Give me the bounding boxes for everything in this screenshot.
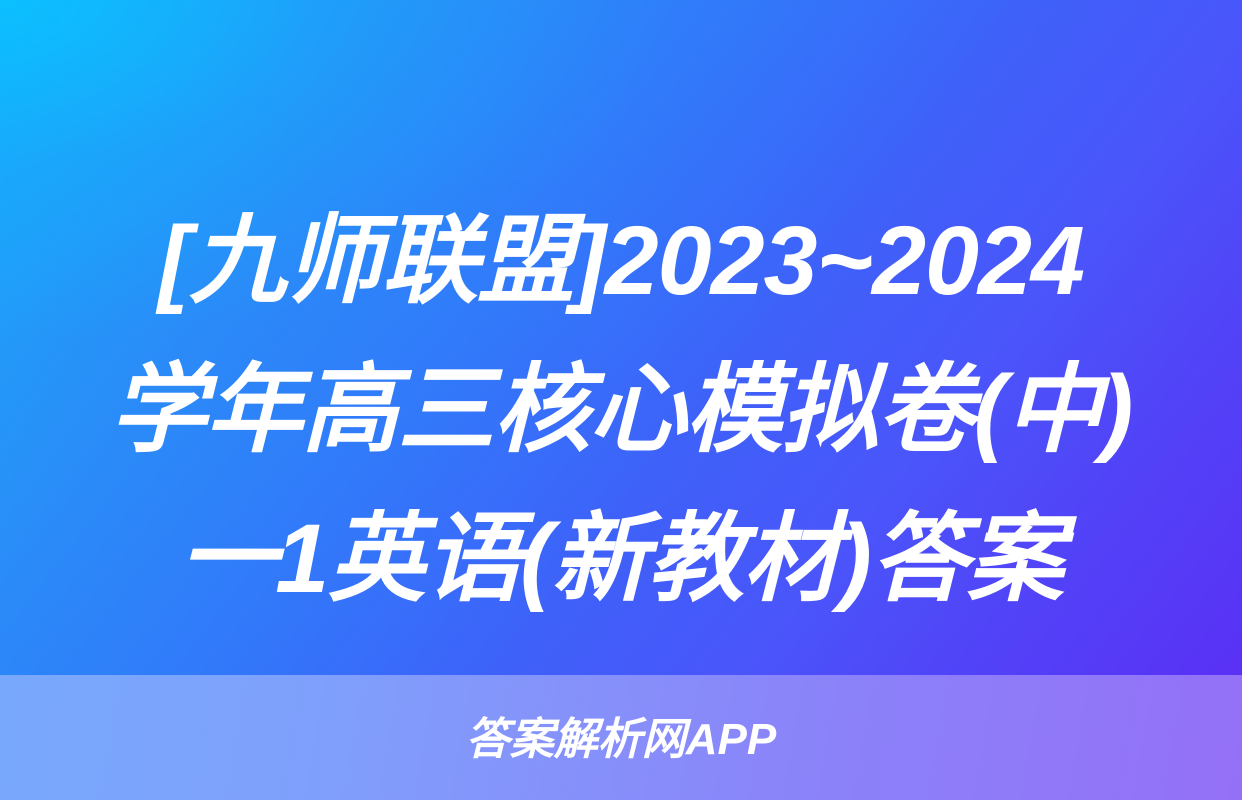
watermark-label: 答案解析网APP: [466, 718, 776, 762]
cover-title-line-2: 学年高三核心模拟卷(中): [0, 335, 1242, 484]
cover-title-line-1: [九师联盟]2023~2024: [0, 186, 1242, 335]
watermark-band: 答案解析网APP: [0, 675, 1242, 800]
cover-image: [九师联盟]2023~2024 学年高三核心模拟卷(中) 一1英语(新教材)答案…: [0, 0, 1242, 800]
cover-title: [九师联盟]2023~2024 学年高三核心模拟卷(中) 一1英语(新教材)答案: [0, 186, 1242, 633]
cover-title-line-3: 一1英语(新教材)答案: [0, 484, 1242, 633]
